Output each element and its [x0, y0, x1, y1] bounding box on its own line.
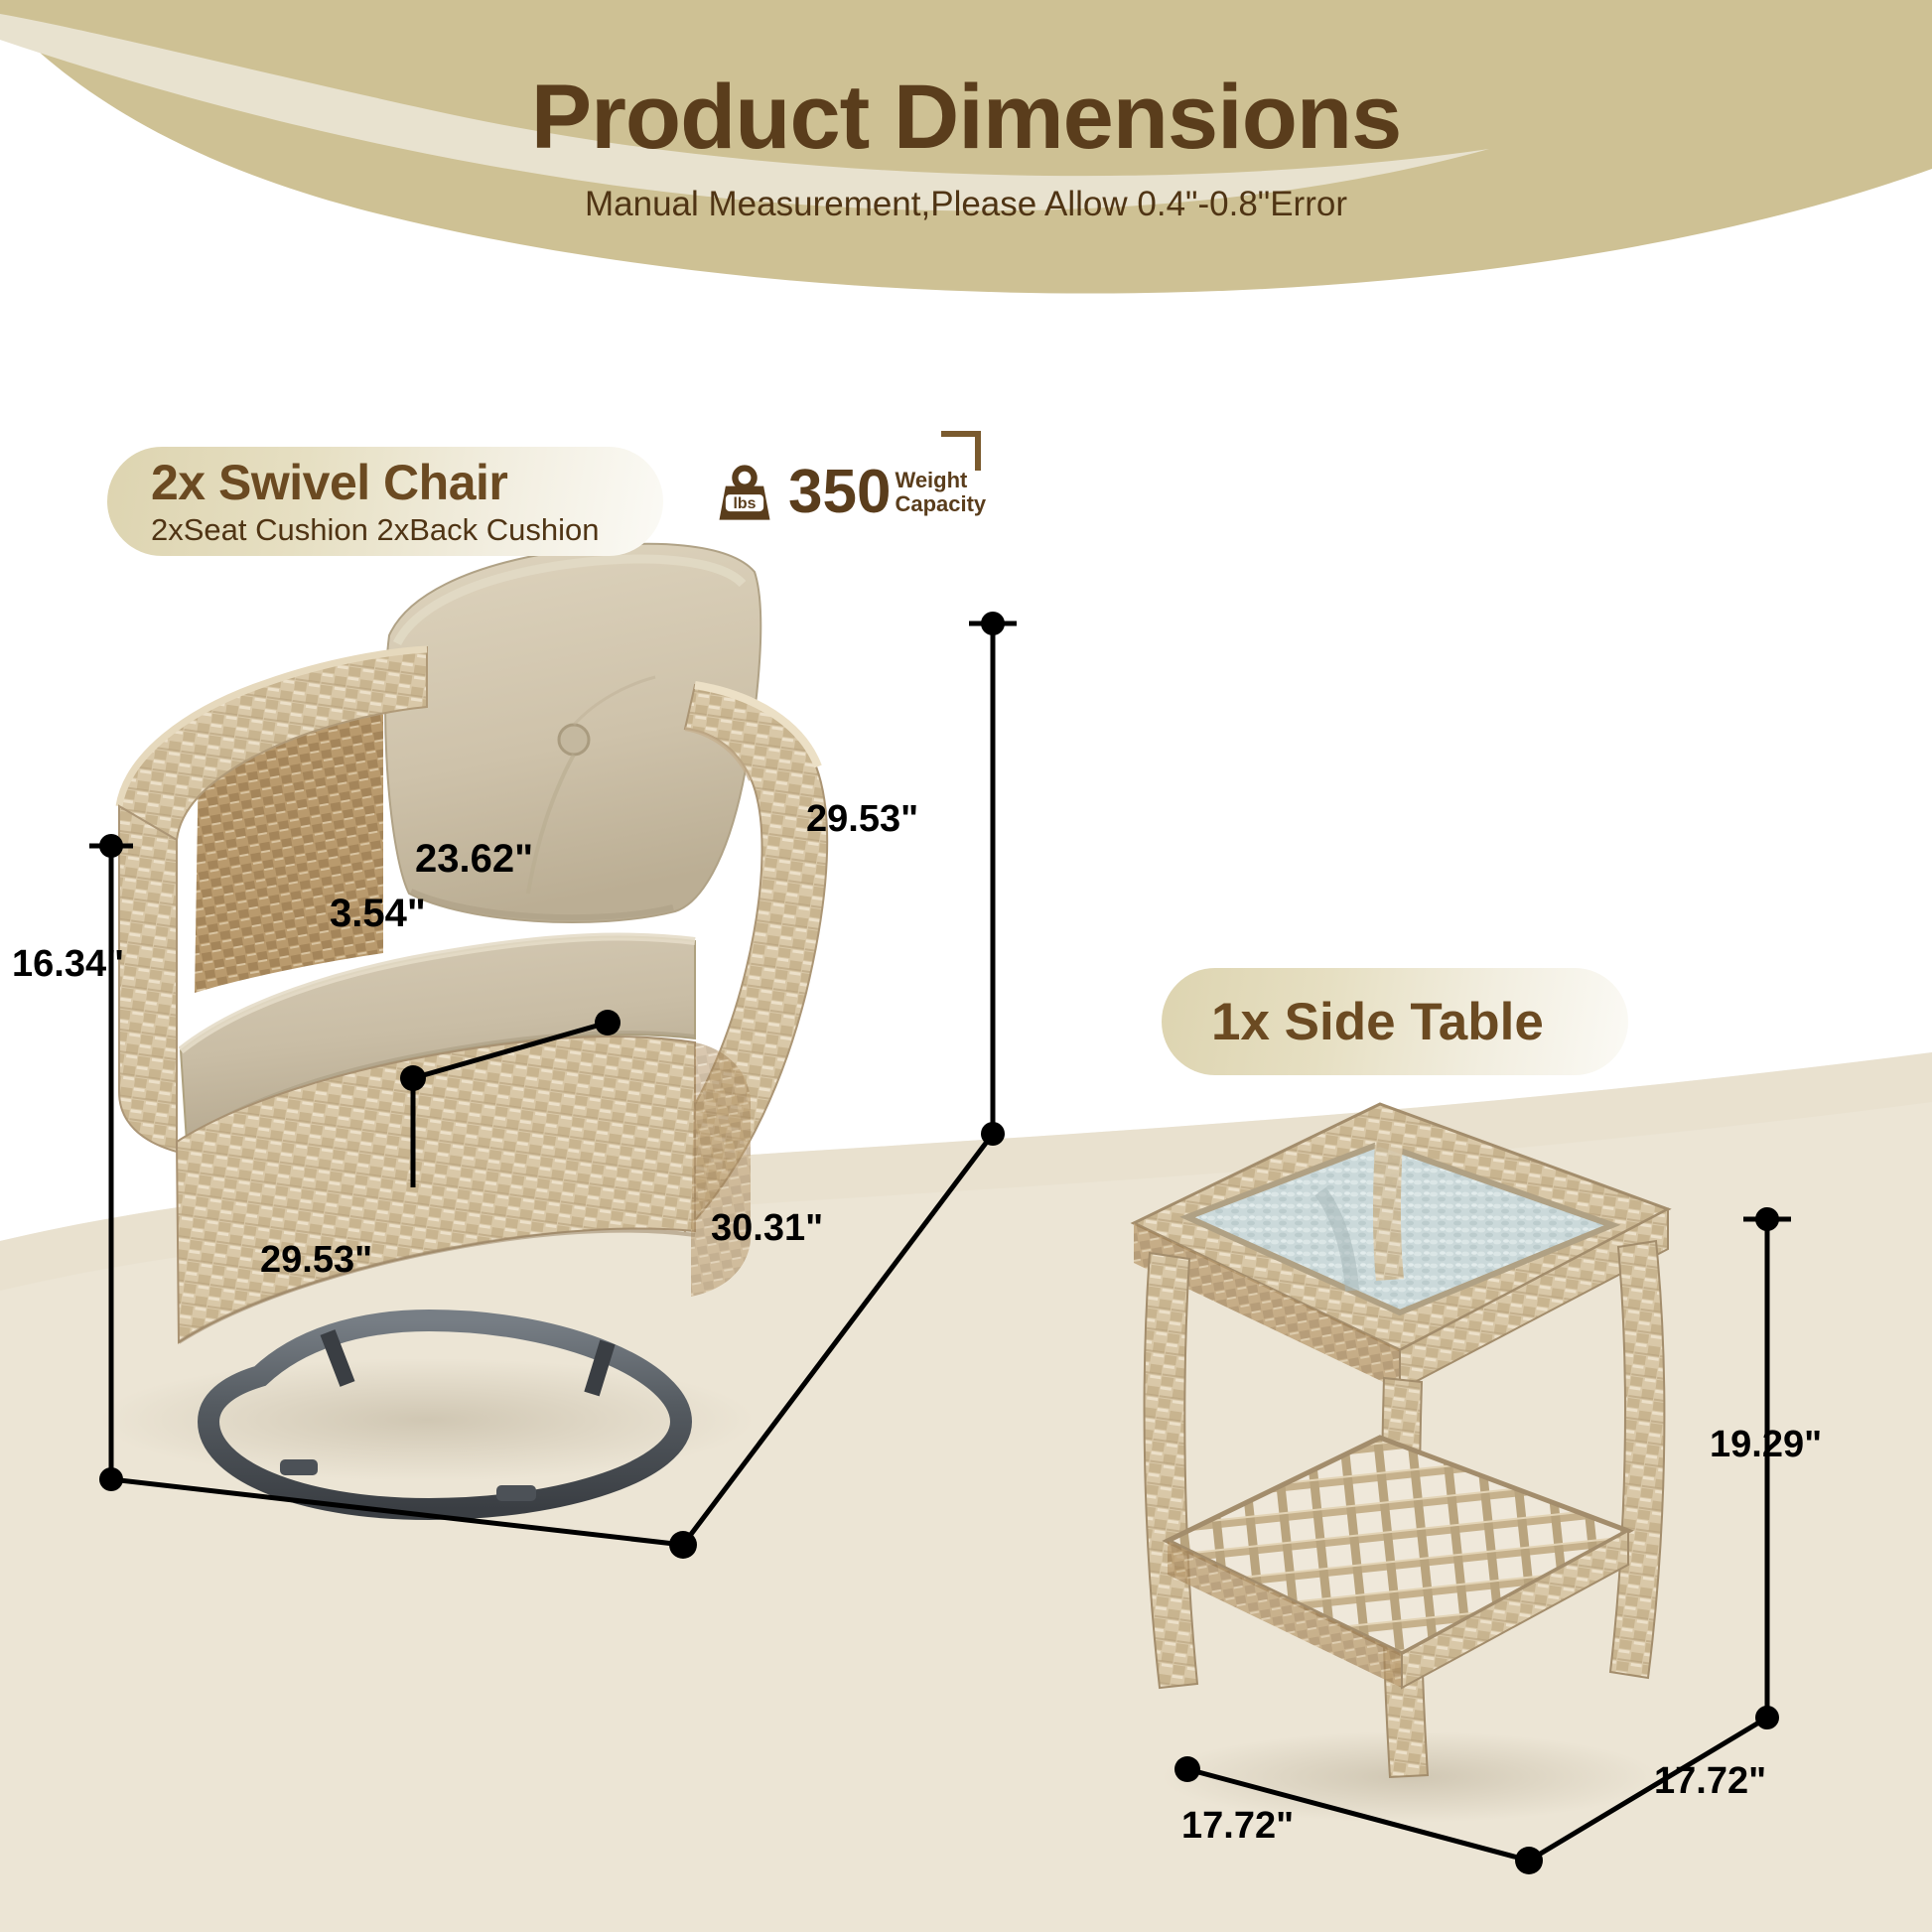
dim-label-seat-thickness: 3.54" — [330, 892, 426, 936]
title-block: Product Dimensions Manual Measurement,Pl… — [0, 71, 1932, 224]
page-subtitle: Manual Measurement,Please Allow 0.4"-0.8… — [0, 185, 1932, 224]
chair-badge-title: 2x Swivel Chair — [151, 458, 663, 507]
dim-label-chair-height: 29.53" — [806, 798, 918, 841]
weight-caption-line1: Weight — [895, 469, 986, 492]
dim-label-chair-width: 29.53" — [260, 1239, 372, 1282]
weight-capacity-group: lbs 350 Weight Capacity — [711, 459, 986, 526]
table-badge-title: 1x Side Table — [1211, 996, 1628, 1048]
dim-label-table-width: 17.72" — [1181, 1805, 1294, 1848]
dim-label-chair-seat-height: 16.34" — [12, 943, 124, 986]
dim-label-chair-depth: 30.31" — [711, 1207, 823, 1250]
weight-capacity-caption: Weight Capacity — [895, 469, 986, 516]
chair-badge-subtitle: 2xSeat Cushion 2xBack Cushion — [151, 514, 663, 545]
chair-badge: 2x Swivel Chair 2xSeat Cushion 2xBack Cu… — [107, 447, 663, 556]
dim-label-table-depth: 17.72" — [1654, 1760, 1766, 1803]
weight-icon-label: lbs — [733, 495, 756, 512]
page-title: Product Dimensions — [0, 71, 1932, 163]
weight-capacity-value: 350 — [788, 462, 891, 523]
weight-caption-line2: Capacity — [895, 492, 986, 516]
dim-label-seat-width: 23.62" — [415, 837, 533, 882]
dim-label-table-height: 19.29" — [1710, 1424, 1822, 1466]
table-badge: 1x Side Table — [1162, 968, 1628, 1075]
product-illustration — [0, 0, 1932, 1932]
weight-lbs-icon: lbs — [711, 459, 778, 526]
